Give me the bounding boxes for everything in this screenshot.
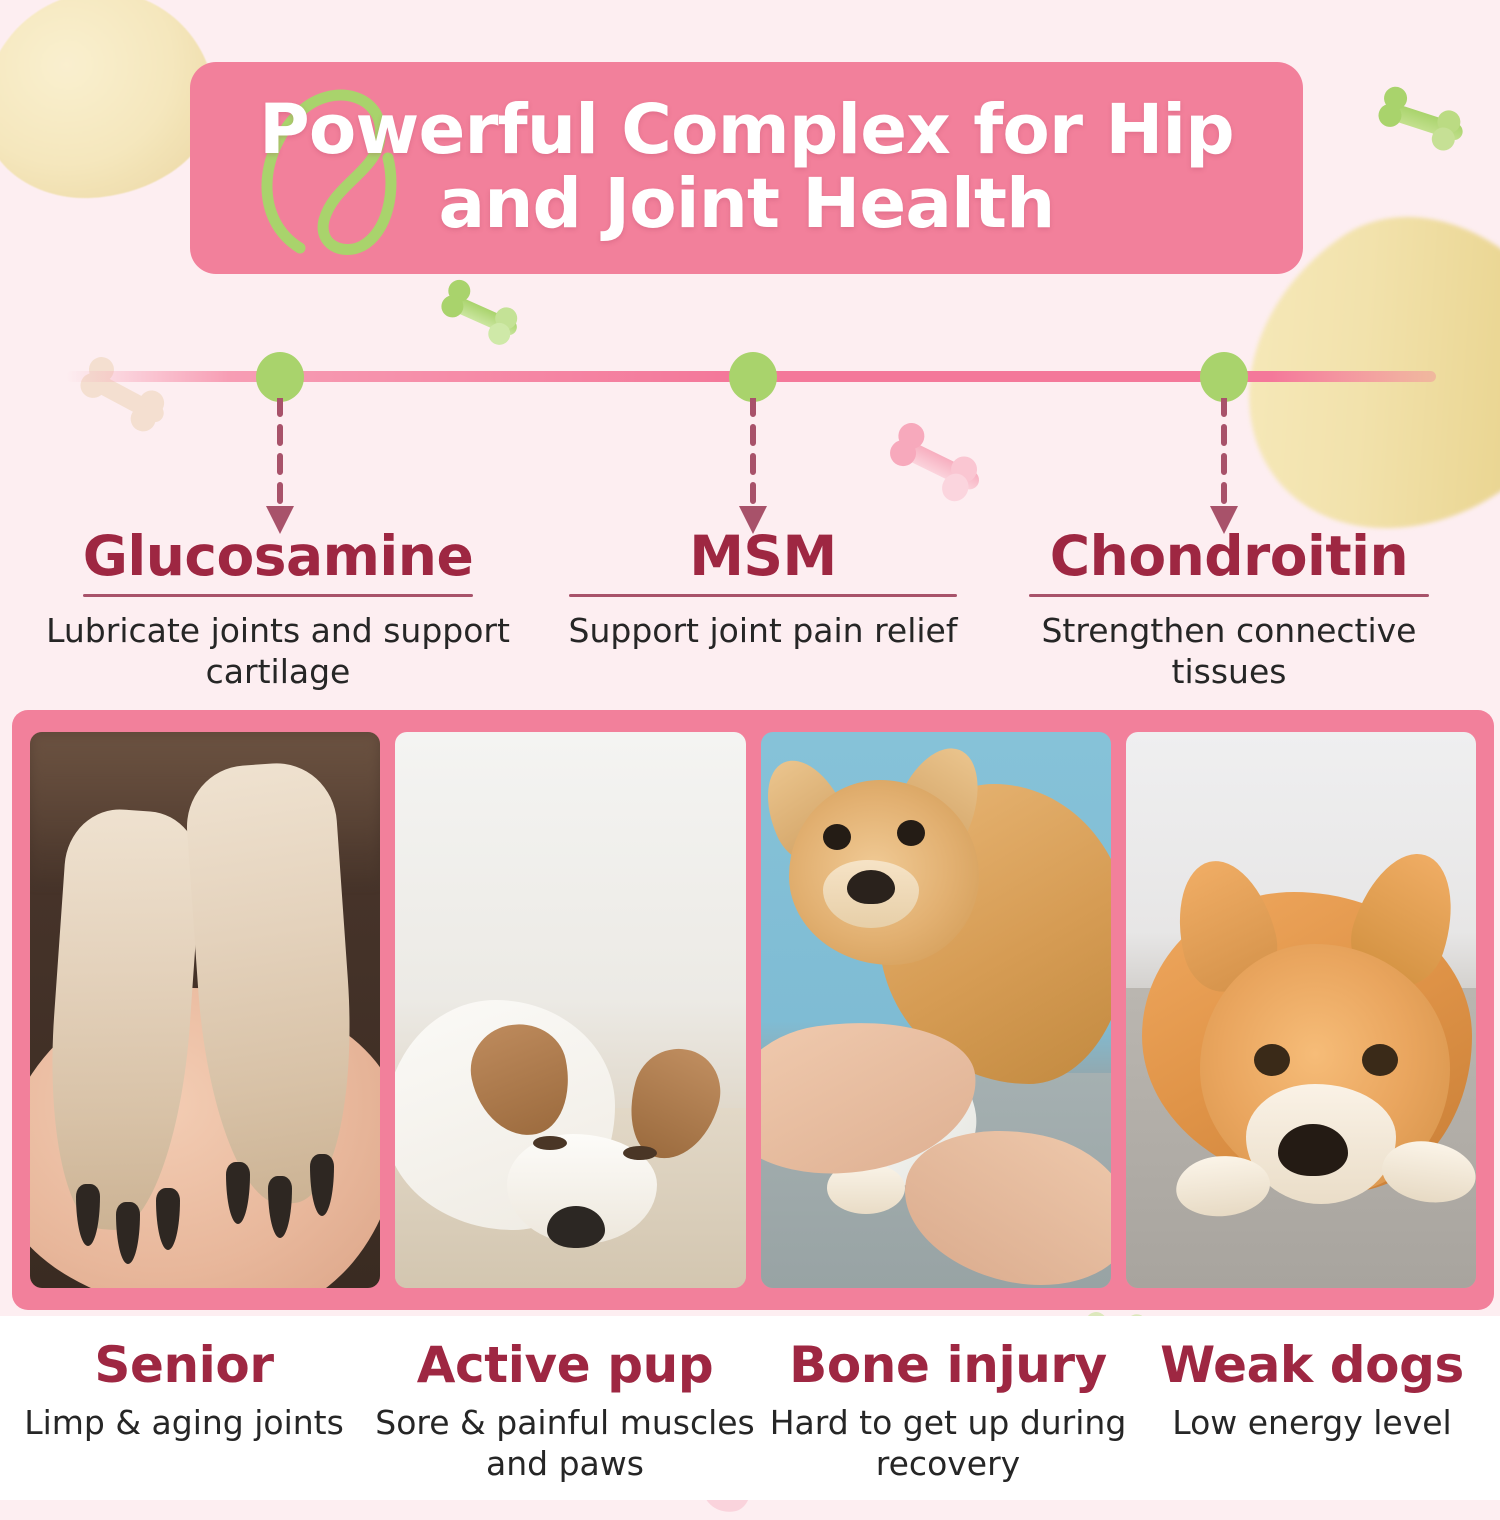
photo-strip	[12, 710, 1494, 1310]
use-case-senior: Senior Limp & aging joints	[8, 1316, 360, 1485]
dashed-arrow-msm	[735, 398, 775, 538]
use-case-title: Bone injury	[768, 1316, 1128, 1392]
node-dot-chondroitin	[1200, 352, 1248, 402]
ingredient-list: Glucosamine Lubricate joints and support…	[0, 528, 1500, 693]
use-case-bone-injury: Bone injury Hard to get up during recove…	[768, 1316, 1128, 1485]
ingredient-name: Glucosamine	[28, 528, 528, 586]
pink-bone-icon	[881, 417, 1005, 517]
title-line-2: and Joint Health	[438, 164, 1054, 244]
ingredient-description: Lubricate joints and support cartilage	[28, 611, 528, 693]
ingredient-description: Strengthen connective tissues	[999, 611, 1459, 693]
header-banner: Powerful Complex for Hip and Joint Healt…	[190, 62, 1303, 274]
use-case-active-pup: Active pup Sore & painful muscles and pa…	[370, 1316, 760, 1485]
green-bone-icon	[434, 275, 538, 358]
ingredient-msm: MSM Support joint pain relief	[563, 528, 963, 693]
ingredient-chondroitin: Chondroitin Strengthen connective tissue…	[999, 528, 1459, 693]
use-case-section: Senior Limp & aging joints Active pup So…	[0, 1316, 1500, 1500]
use-case-subtitle: Limp & aging joints	[8, 1402, 360, 1443]
node-dot-glucosamine	[256, 352, 304, 402]
dashed-arrow-glucosamine	[262, 398, 302, 538]
use-case-title: Senior	[8, 1316, 360, 1392]
ingredient-underline	[569, 594, 957, 597]
photo-corgi-lying-down	[1126, 732, 1476, 1288]
ingredient-description: Support joint pain relief	[563, 611, 963, 652]
photo-chihuahua-paw-bandage	[761, 732, 1111, 1288]
ingredient-name: Chondroitin	[999, 528, 1459, 586]
photo-jack-russell-resting	[395, 732, 745, 1288]
ingredient-name: MSM	[563, 528, 963, 586]
use-case-title: Active pup	[370, 1316, 760, 1392]
dashed-arrow-chondroitin	[1206, 398, 1246, 538]
use-case-list: Senior Limp & aging joints Active pup So…	[0, 1316, 1500, 1485]
beige-bone-icon	[71, 351, 189, 449]
page-title: Powerful Complex for Hip and Joint Healt…	[259, 94, 1234, 242]
green-bone-icon	[1372, 82, 1484, 164]
use-case-title: Weak dogs	[1132, 1316, 1492, 1392]
node-dot-msm	[729, 352, 777, 402]
use-case-subtitle: Hard to get up during recovery	[768, 1402, 1128, 1485]
ingredient-underline	[83, 594, 473, 597]
ingredient-underline	[1029, 594, 1429, 597]
use-case-subtitle: Low energy level	[1132, 1402, 1492, 1443]
use-case-weak-dogs: Weak dogs Low energy level	[1132, 1316, 1492, 1485]
ingredient-glucosamine: Glucosamine Lubricate joints and support…	[28, 528, 528, 693]
title-line-1: Powerful Complex for Hip	[259, 90, 1234, 170]
photo-hand-holding-dog-paws	[30, 732, 380, 1288]
use-case-subtitle: Sore & painful muscles and paws	[370, 1402, 760, 1485]
